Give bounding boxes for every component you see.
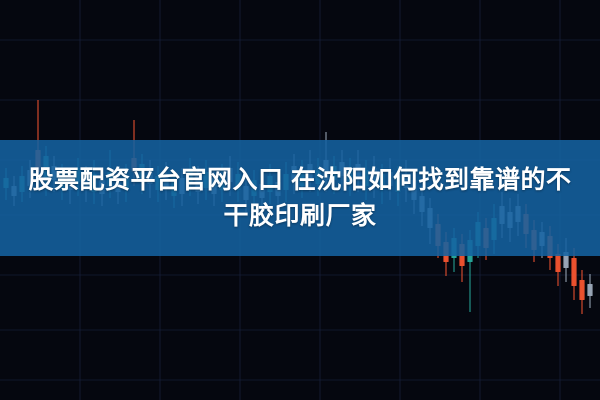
banner-title-line-1: 股票配资平台官网入口 在沈阳如何找到靠谱的不 [29, 162, 572, 198]
chart-banner-image: 股票配资平台官网入口 在沈阳如何找到靠谱的不 干胶印刷厂家 [0, 0, 600, 400]
banner-title-line-2: 干胶印刷厂家 [223, 198, 376, 234]
title-banner: 股票配资平台官网入口 在沈阳如何找到靠谱的不 干胶印刷厂家 [0, 140, 600, 256]
